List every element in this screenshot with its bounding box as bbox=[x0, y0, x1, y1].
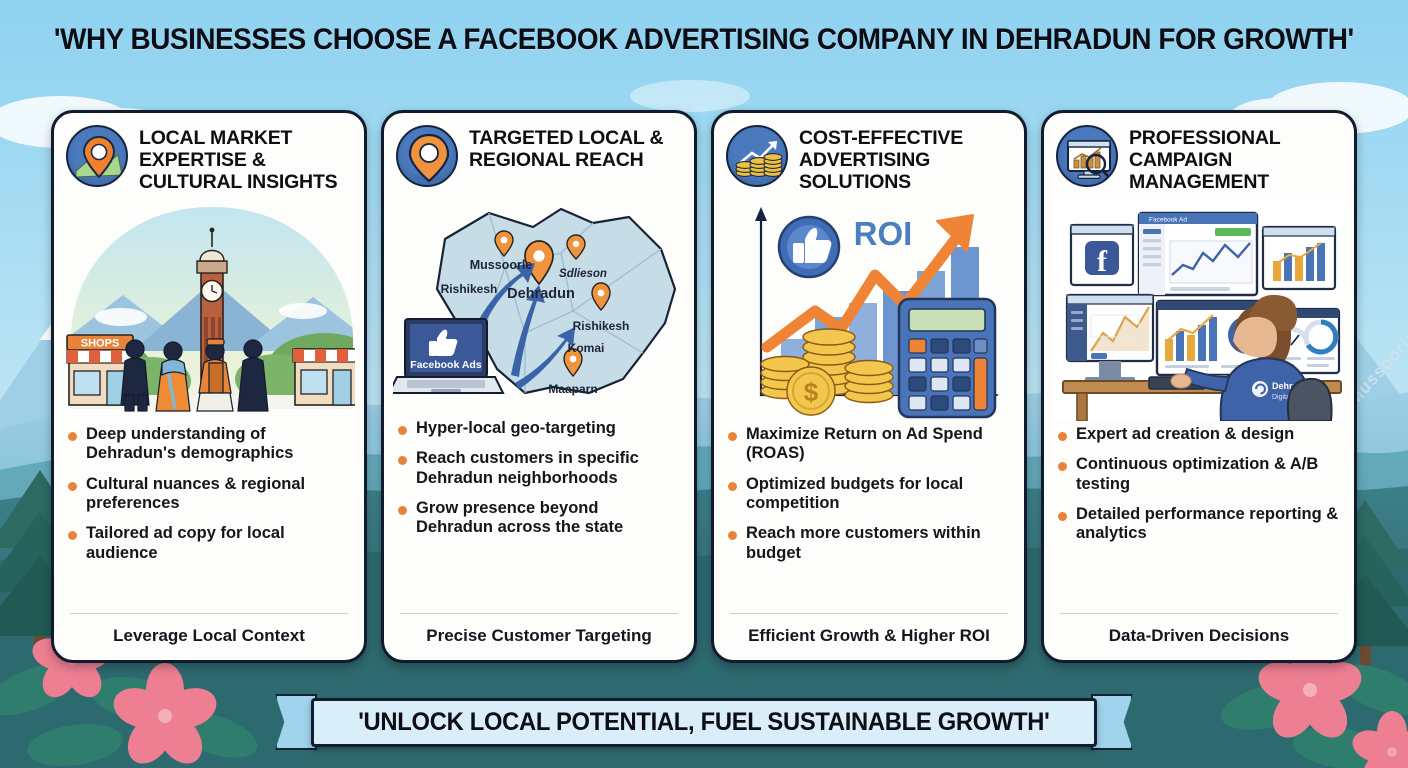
bullet-text: Maximize Return on Ad Spend (ROAS) bbox=[746, 425, 1010, 464]
bullet-text: Detailed performance reporting & analyti… bbox=[1076, 505, 1340, 544]
card-header: PROFESSIONAL CAMPAIGN MANAGEMENT bbox=[1044, 113, 1354, 197]
bullet-dot-icon bbox=[398, 506, 407, 515]
card-title: PROFESSIONAL CAMPAIGN MANAGEMENT bbox=[1129, 125, 1342, 193]
card-header: COST-EFFECTIVE ADVERTISING SOLUTIONS bbox=[714, 113, 1024, 197]
card-targeted-local-reach[interactable]: TARGETED LOCAL & REGIONAL REACH bbox=[381, 110, 697, 663]
screen-title: Facebook Ad bbox=[1149, 217, 1187, 224]
bullet-dot-icon bbox=[728, 531, 737, 540]
roi-growth-illustration: ROI bbox=[723, 199, 1015, 421]
facebook-thumbs-up-icon bbox=[779, 217, 839, 277]
list-item: Maximize Return on Ad Spend (ROAS) bbox=[728, 425, 1010, 464]
bullet-dot-icon bbox=[728, 432, 737, 441]
shop-sign-label: SHOPS bbox=[81, 338, 120, 350]
card-title: LOCAL MARKET EXPERTISE & CULTURAL INSIGH… bbox=[139, 125, 352, 193]
list-item: Detailed performance reporting & analyti… bbox=[1058, 505, 1340, 544]
bullet-text: Hyper-local geo-targeting bbox=[416, 419, 616, 438]
card-bullet-list: Deep understanding of Dehradun's demogra… bbox=[54, 421, 364, 610]
bullet-text: Optimized budgets for local competition bbox=[746, 475, 1010, 514]
bottom-ribbon: 'UNLOCK LOCAL POTENTIAL, FUEL SUSTAINABL… bbox=[0, 694, 1408, 750]
list-item: Optimized budgets for local competition bbox=[728, 475, 1010, 514]
calculator bbox=[899, 299, 995, 417]
list-item: Continuous optimization & A/B testing bbox=[1058, 455, 1340, 494]
ribbon-tail-right bbox=[1091, 694, 1133, 750]
map-label-sdlieson: Sdlieson bbox=[559, 268, 607, 280]
card-footer-label: Data-Driven Decisions bbox=[1044, 614, 1354, 660]
growth-coins-icon bbox=[726, 125, 788, 187]
card-cost-effective-advertising[interactable]: COST-EFFECTIVE ADVERTISING SOLUTIONS bbox=[711, 110, 1027, 663]
map-pin-icon bbox=[66, 125, 128, 187]
list-item: Deep understanding of Dehradun's demogra… bbox=[68, 425, 350, 464]
card-bullet-list: Expert ad creation & design Continuous o… bbox=[1044, 421, 1354, 610]
uttarakhand-map-illustration: Mussoorle Rishikesh Dehradun Sdlieson Ri… bbox=[393, 193, 685, 415]
card-footer-label: Efficient Growth & Higher ROI bbox=[714, 614, 1024, 660]
dehradun-clock-tower-illustration: SHOPS bbox=[63, 199, 355, 421]
bullet-dot-icon bbox=[68, 531, 77, 540]
map-label-maaparn: Maaparn bbox=[548, 382, 597, 396]
screen-area-chart bbox=[1067, 295, 1153, 361]
roi-label: ROI bbox=[854, 215, 913, 252]
card-header: TARGETED LOCAL & REGIONAL REACH bbox=[384, 113, 694, 191]
list-item: Tailored ad copy for local audience bbox=[68, 524, 350, 563]
bullet-text: Deep understanding of Dehradun's demogra… bbox=[86, 425, 350, 464]
bullet-dot-icon bbox=[398, 426, 407, 435]
bullet-dot-icon bbox=[398, 456, 407, 465]
map-pin-icon bbox=[396, 125, 458, 187]
list-item: Hyper-local geo-targeting bbox=[398, 419, 680, 438]
bullet-text: Continuous optimization & A/B testing bbox=[1076, 455, 1340, 494]
ribbon-text: 'UNLOCK LOCAL POTENTIAL, FUEL SUSTAINABL… bbox=[358, 708, 1049, 737]
card-footer-label: Precise Customer Targeting bbox=[384, 614, 694, 660]
screen-bar-chart-right bbox=[1263, 227, 1335, 289]
card-footer-label: Leverage Local Context bbox=[54, 614, 364, 660]
card-bullet-list: Maximize Return on Ad Spend (ROAS) Optim… bbox=[714, 421, 1024, 610]
card-header: LOCAL MARKET EXPERTISE & CULTURAL INSIGH… bbox=[54, 113, 364, 197]
bullet-dot-icon bbox=[68, 482, 77, 491]
bullet-text: Tailored ad copy for local audience bbox=[86, 524, 350, 563]
bullet-text: Reach customers in specific Dehradun nei… bbox=[416, 449, 680, 488]
map-label-dehradun: Dehradun bbox=[507, 286, 575, 302]
bullet-text: Reach more customers within budget bbox=[746, 524, 1010, 563]
card-local-market-expertise[interactable]: LOCAL MARKET EXPERTISE & CULTURAL INSIGH… bbox=[51, 110, 367, 663]
list-item: Grow presence beyond Dehradun across the… bbox=[398, 499, 680, 538]
map-label-komai: Komai bbox=[568, 341, 605, 355]
dollar-symbol: $ bbox=[804, 377, 819, 407]
laptop-screen-label: Facebook Ads bbox=[410, 359, 482, 371]
bullet-dot-icon bbox=[68, 432, 77, 441]
bullet-dot-icon bbox=[1058, 432, 1067, 441]
bullet-dot-icon bbox=[1058, 462, 1067, 471]
list-item: Reach more customers within budget bbox=[728, 524, 1010, 563]
feature-card-row: LOCAL MARKET EXPERTISE & CULTURAL INSIGH… bbox=[0, 110, 1408, 668]
bullet-dot-icon bbox=[728, 482, 737, 491]
page-title-band: 'WHY BUSINESSES CHOOSE A FACEBOOK ADVERT… bbox=[0, 10, 1408, 70]
card-title: TARGETED LOCAL & REGIONAL REACH bbox=[469, 125, 682, 171]
list-item: Reach customers in specific Dehradun nei… bbox=[398, 449, 680, 488]
card-bullet-list: Hyper-local geo-targeting Reach customer… bbox=[384, 415, 694, 611]
map-label-rishikesh-east: Rishikesh bbox=[573, 319, 630, 333]
bullet-text: Cultural nuances & regional preferences bbox=[86, 475, 350, 514]
laptop-facebook-ads: Facebook Ads bbox=[393, 319, 503, 393]
bullet-text: Expert ad creation & design bbox=[1076, 425, 1294, 444]
bullet-text: Grow presence beyond Dehradun across the… bbox=[416, 499, 680, 538]
map-label-rishikesh-west: Rishikesh bbox=[441, 282, 498, 296]
list-item: Expert ad creation & design bbox=[1058, 425, 1340, 444]
campaign-manager-workstation-illustration: f Facebook Ad bbox=[1053, 199, 1345, 421]
map-label-mussoorle: Mussoorle bbox=[470, 258, 533, 272]
monitor-analytics-icon bbox=[1056, 125, 1118, 187]
screen-facebook: f bbox=[1071, 225, 1133, 285]
screen-line-chart: Facebook Ad bbox=[1139, 213, 1257, 295]
shop-right bbox=[293, 349, 355, 405]
list-item: Cultural nuances & regional preferences bbox=[68, 475, 350, 514]
card-title: COST-EFFECTIVE ADVERTISING SOLUTIONS bbox=[799, 125, 1012, 193]
facebook-glyph: f bbox=[1097, 245, 1108, 278]
ribbon-body: 'UNLOCK LOCAL POTENTIAL, FUEL SUSTAINABL… bbox=[311, 698, 1097, 747]
card-professional-campaign-management[interactable]: PROFESSIONAL CAMPAIGN MANAGEMENT f Faceb… bbox=[1041, 110, 1357, 663]
bullet-dot-icon bbox=[1058, 512, 1067, 521]
page-title: 'WHY BUSINESSES CHOOSE A FACEBOOK ADVERT… bbox=[54, 23, 1354, 57]
